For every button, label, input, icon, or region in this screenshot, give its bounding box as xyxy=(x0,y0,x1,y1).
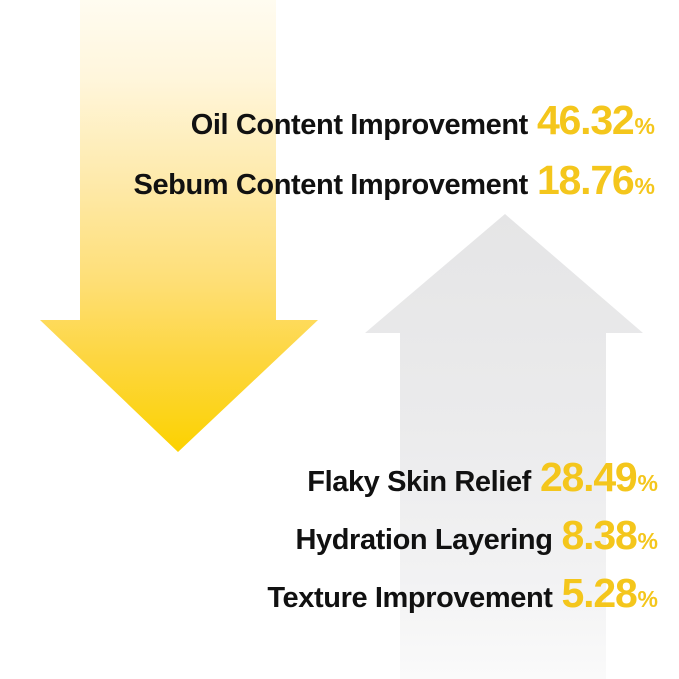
stat-value: 8.38 xyxy=(562,515,637,556)
infographic-canvas: Oil Content Improvement 46.32 % Sebum Co… xyxy=(0,0,679,679)
stat-label: Flaky Skin Relief xyxy=(307,468,531,497)
stat-value: 46.32 xyxy=(537,100,634,141)
stat-value: 18.76 xyxy=(537,160,634,201)
stat-unit: % xyxy=(638,472,658,495)
stat-row: Flaky Skin Relief 28.49 % xyxy=(307,457,658,515)
stat-unit: % xyxy=(635,175,655,198)
arrow-down-icon xyxy=(40,0,318,452)
stat-row: Texture Improvement 5.28 % xyxy=(267,573,658,631)
stat-label: Texture Improvement xyxy=(267,584,552,613)
stat-label: Hydration Layering xyxy=(295,526,552,555)
increase-stats-group: Flaky Skin Relief 28.49 % Hydration Laye… xyxy=(0,457,658,631)
stat-row: Sebum Content Improvement 18.76 % xyxy=(134,160,656,220)
stat-unit: % xyxy=(638,588,658,611)
stat-row: Hydration Layering 8.38 % xyxy=(295,515,658,573)
stat-label: Oil Content Improvement xyxy=(191,111,528,140)
stat-label: Sebum Content Improvement xyxy=(134,171,528,200)
stat-value: 5.28 xyxy=(562,573,637,614)
decrease-stats-group: Oil Content Improvement 46.32 % Sebum Co… xyxy=(0,100,655,220)
stat-unit: % xyxy=(635,115,655,138)
stat-unit: % xyxy=(638,530,658,553)
stat-value: 28.49 xyxy=(540,457,637,498)
stat-row: Oil Content Improvement 46.32 % xyxy=(191,100,655,160)
